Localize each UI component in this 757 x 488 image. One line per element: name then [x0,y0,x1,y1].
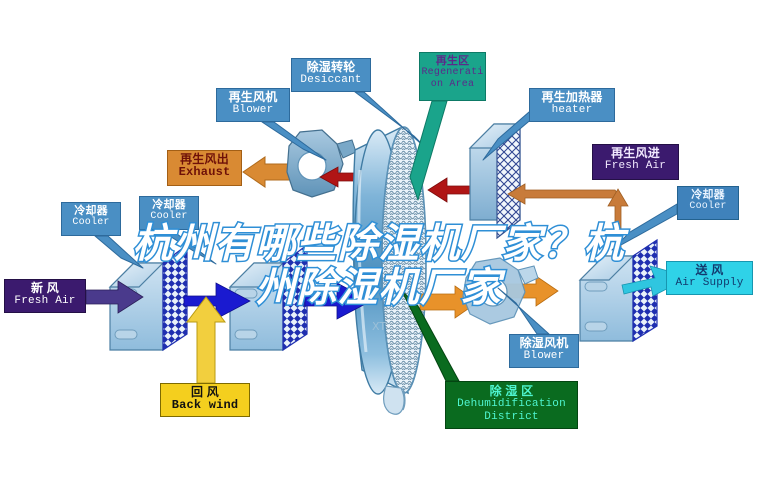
label-desiccant-rotor-cn: 除湿转轮 [292,61,370,74]
label-regeneration-fresh-air-cn: 再生风进 [593,147,678,160]
label-cooler-right: 冷却器 Cooler [677,186,739,220]
label-regeneration-area-en: Regenerati on Area [420,67,485,89]
label-cooler-left-lower-cn: 冷却器 [62,205,120,217]
label-air-supply-cn: 送 风 [667,264,752,277]
label-fresh-air-inlet-cn: 新 风 [5,282,85,295]
label-regeneration-heater: 再生加热器 heater [529,88,615,122]
label-back-wind-cn: 回 风 [161,386,249,399]
label-dehumid-district-cn: 除 湿 区 [446,385,577,398]
label-regeneration-fresh-air-en: Fresh Air [593,160,678,172]
svg-text:XT: XT [372,320,386,333]
label-dehumid-blower: 除湿风机 Blower [509,334,579,368]
label-regeneration-heater-en: heater [530,104,614,116]
label-regeneration-blower-cn: 再生风机 [217,91,289,104]
label-dehumid-district: 除 湿 区 Dehumidification District [445,381,578,429]
label-back-wind: 回 风 Back wind [160,383,250,417]
label-dehumid-blower-cn: 除湿风机 [510,337,578,350]
label-fresh-air-inlet-en: Fresh Air [5,295,85,307]
label-regeneration-blower: 再生风机 Blower [216,88,290,122]
exhaust-arrow [243,157,290,187]
label-back-wind-en: Back wind [161,399,249,412]
label-dehumid-blower-en: Blower [510,350,578,362]
label-air-supply-en: Air Supply [667,277,752,289]
label-regeneration-fresh-air: 再生风进 Fresh Air [592,144,679,180]
label-exhaust-air-en: Exhaust [168,166,241,179]
label-exhaust-air: 再生风出 Exhaust [167,150,242,186]
label-regeneration-heater-cn: 再生加热器 [530,91,614,104]
regen-into-rotor-arrow-2 [428,178,470,202]
label-desiccant-rotor: 除湿转轮 Desiccant [291,58,371,92]
label-cooler-left-upper-cn: 冷却器 [140,199,198,211]
label-dehumid-district-en: Dehumidification District [446,398,577,423]
label-cooler-left-upper: 冷却器 Cooler [139,196,199,230]
heater-unit [470,124,520,238]
dehumidifier-diagram: XT [0,0,757,488]
label-air-supply: 送 风 Air Supply [666,261,753,295]
label-regeneration-area: 再生区 Regenerati on Area [419,52,486,101]
diagram-artwork: XT [0,0,757,488]
label-cooler-left-lower: 冷却器 Cooler [61,202,121,236]
label-regeneration-area-cn: 再生区 [420,55,485,67]
label-desiccant-rotor-en: Desiccant [292,74,370,86]
label-exhaust-air-cn: 再生风出 [168,153,241,166]
regen-fresh-air-arrow [508,184,628,262]
label-regeneration-blower-en: Blower [217,104,289,116]
label-cooler-left-lower-en: Cooler [62,217,120,228]
label-cooler-left-upper-en: Cooler [140,211,198,222]
label-cooler-right-en: Cooler [678,201,738,212]
label-fresh-air-inlet: 新 风 Fresh Air [4,279,86,313]
label-cooler-right-cn: 冷却器 [678,189,738,201]
